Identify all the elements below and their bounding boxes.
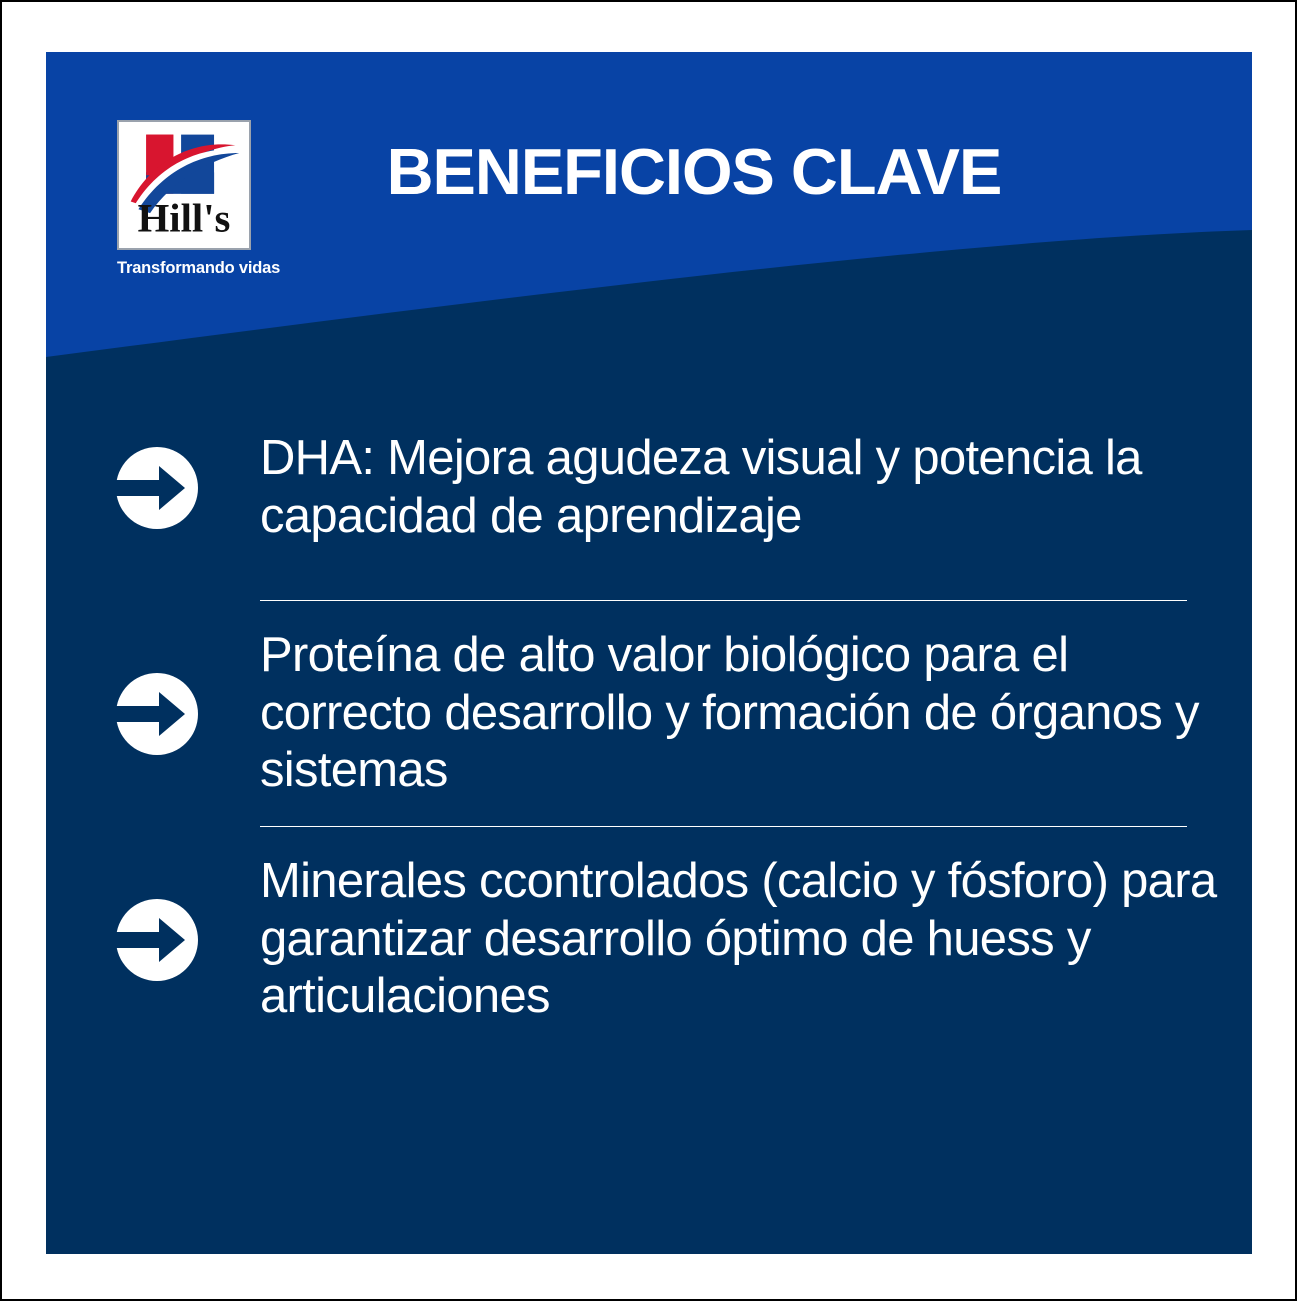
promo-card-screen: Hill's Transformando vidas BENEFICIOS CL… — [0, 0, 1297, 1301]
list-item: Minerales ccontrolados (calcio y fósforo… — [46, 837, 1252, 1042]
arrow-right-circle-icon — [46, 898, 260, 982]
divider — [260, 826, 1187, 827]
list-item-label: Proteína de alto valor biológico para el… — [260, 627, 1252, 800]
divider — [260, 600, 1187, 601]
arrow-right-circle-icon — [46, 672, 260, 756]
benefits-list: DHA: Mejora agudeza visual y potencia la… — [46, 385, 1252, 1042]
list-item-label: Minerales ccontrolados (calcio y fósforo… — [260, 853, 1252, 1026]
page-title: BENEFICIOS CLAVE — [46, 134, 1252, 209]
benefits-panel: Hill's Transformando vidas BENEFICIOS CL… — [46, 52, 1252, 1254]
brand-tagline: Transformando vidas — [117, 259, 267, 278]
list-item-label: DHA: Mejora agudeza visual y potencia la… — [260, 430, 1252, 546]
arrow-right-circle-icon — [46, 446, 260, 530]
list-item: Proteína de alto valor biológico para el… — [46, 611, 1252, 816]
list-item: DHA: Mejora agudeza visual y potencia la… — [46, 385, 1252, 590]
